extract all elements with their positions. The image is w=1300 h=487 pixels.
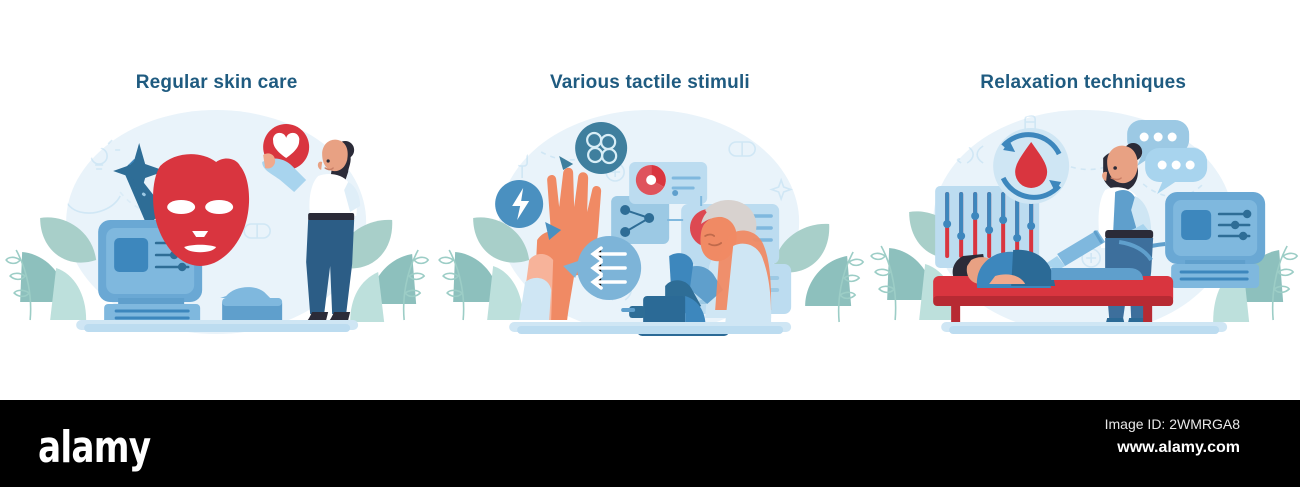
- panel-various-tactile-stimuli: Various tactile stimuli: [433, 0, 866, 380]
- mask-eye-right: [205, 200, 233, 214]
- legs: [1051, 268, 1143, 280]
- illustration-relaxation-techniques: [867, 100, 1300, 340]
- alamy-url: www.alamy.com: [1117, 439, 1240, 457]
- watermark-bar: alamy Image ID: 2WMRGA8 www.alamy.com: [0, 400, 1300, 487]
- blood-drop-refresh-badge: [993, 128, 1069, 204]
- belt: [1105, 230, 1153, 239]
- face: [322, 140, 348, 172]
- panel-title-3: Relaxation techniques: [867, 72, 1300, 94]
- panel-title-1: Regular skin care: [0, 72, 433, 94]
- image-id-label: Image ID: 2WMRGA8: [1105, 416, 1240, 432]
- data-card-pie-chart-small: [629, 162, 707, 204]
- platform-base: [941, 322, 1227, 334]
- panel-row: Regular skin care: [0, 0, 1300, 380]
- illustration-set: Regular skin care: [0, 0, 1300, 487]
- belt: [308, 213, 354, 221]
- platform-base: [509, 322, 791, 334]
- pie-chart-small: [636, 165, 666, 195]
- panel-regular-skin-care: Regular skin care: [0, 0, 433, 380]
- panel-title-2: Various tactile stimuli: [433, 72, 866, 94]
- panel-relaxation-techniques: Relaxation techniques: [867, 0, 1300, 380]
- alamy-logo: alamy: [38, 422, 150, 473]
- illustration-regular-skin-care: [0, 100, 433, 340]
- mask-eye-left: [167, 200, 195, 214]
- device-slider-rows: [1219, 210, 1251, 240]
- arrow-left-icon: [593, 248, 625, 288]
- illustration-various-tactile-stimuli: [433, 100, 866, 340]
- platform-base: [76, 320, 358, 332]
